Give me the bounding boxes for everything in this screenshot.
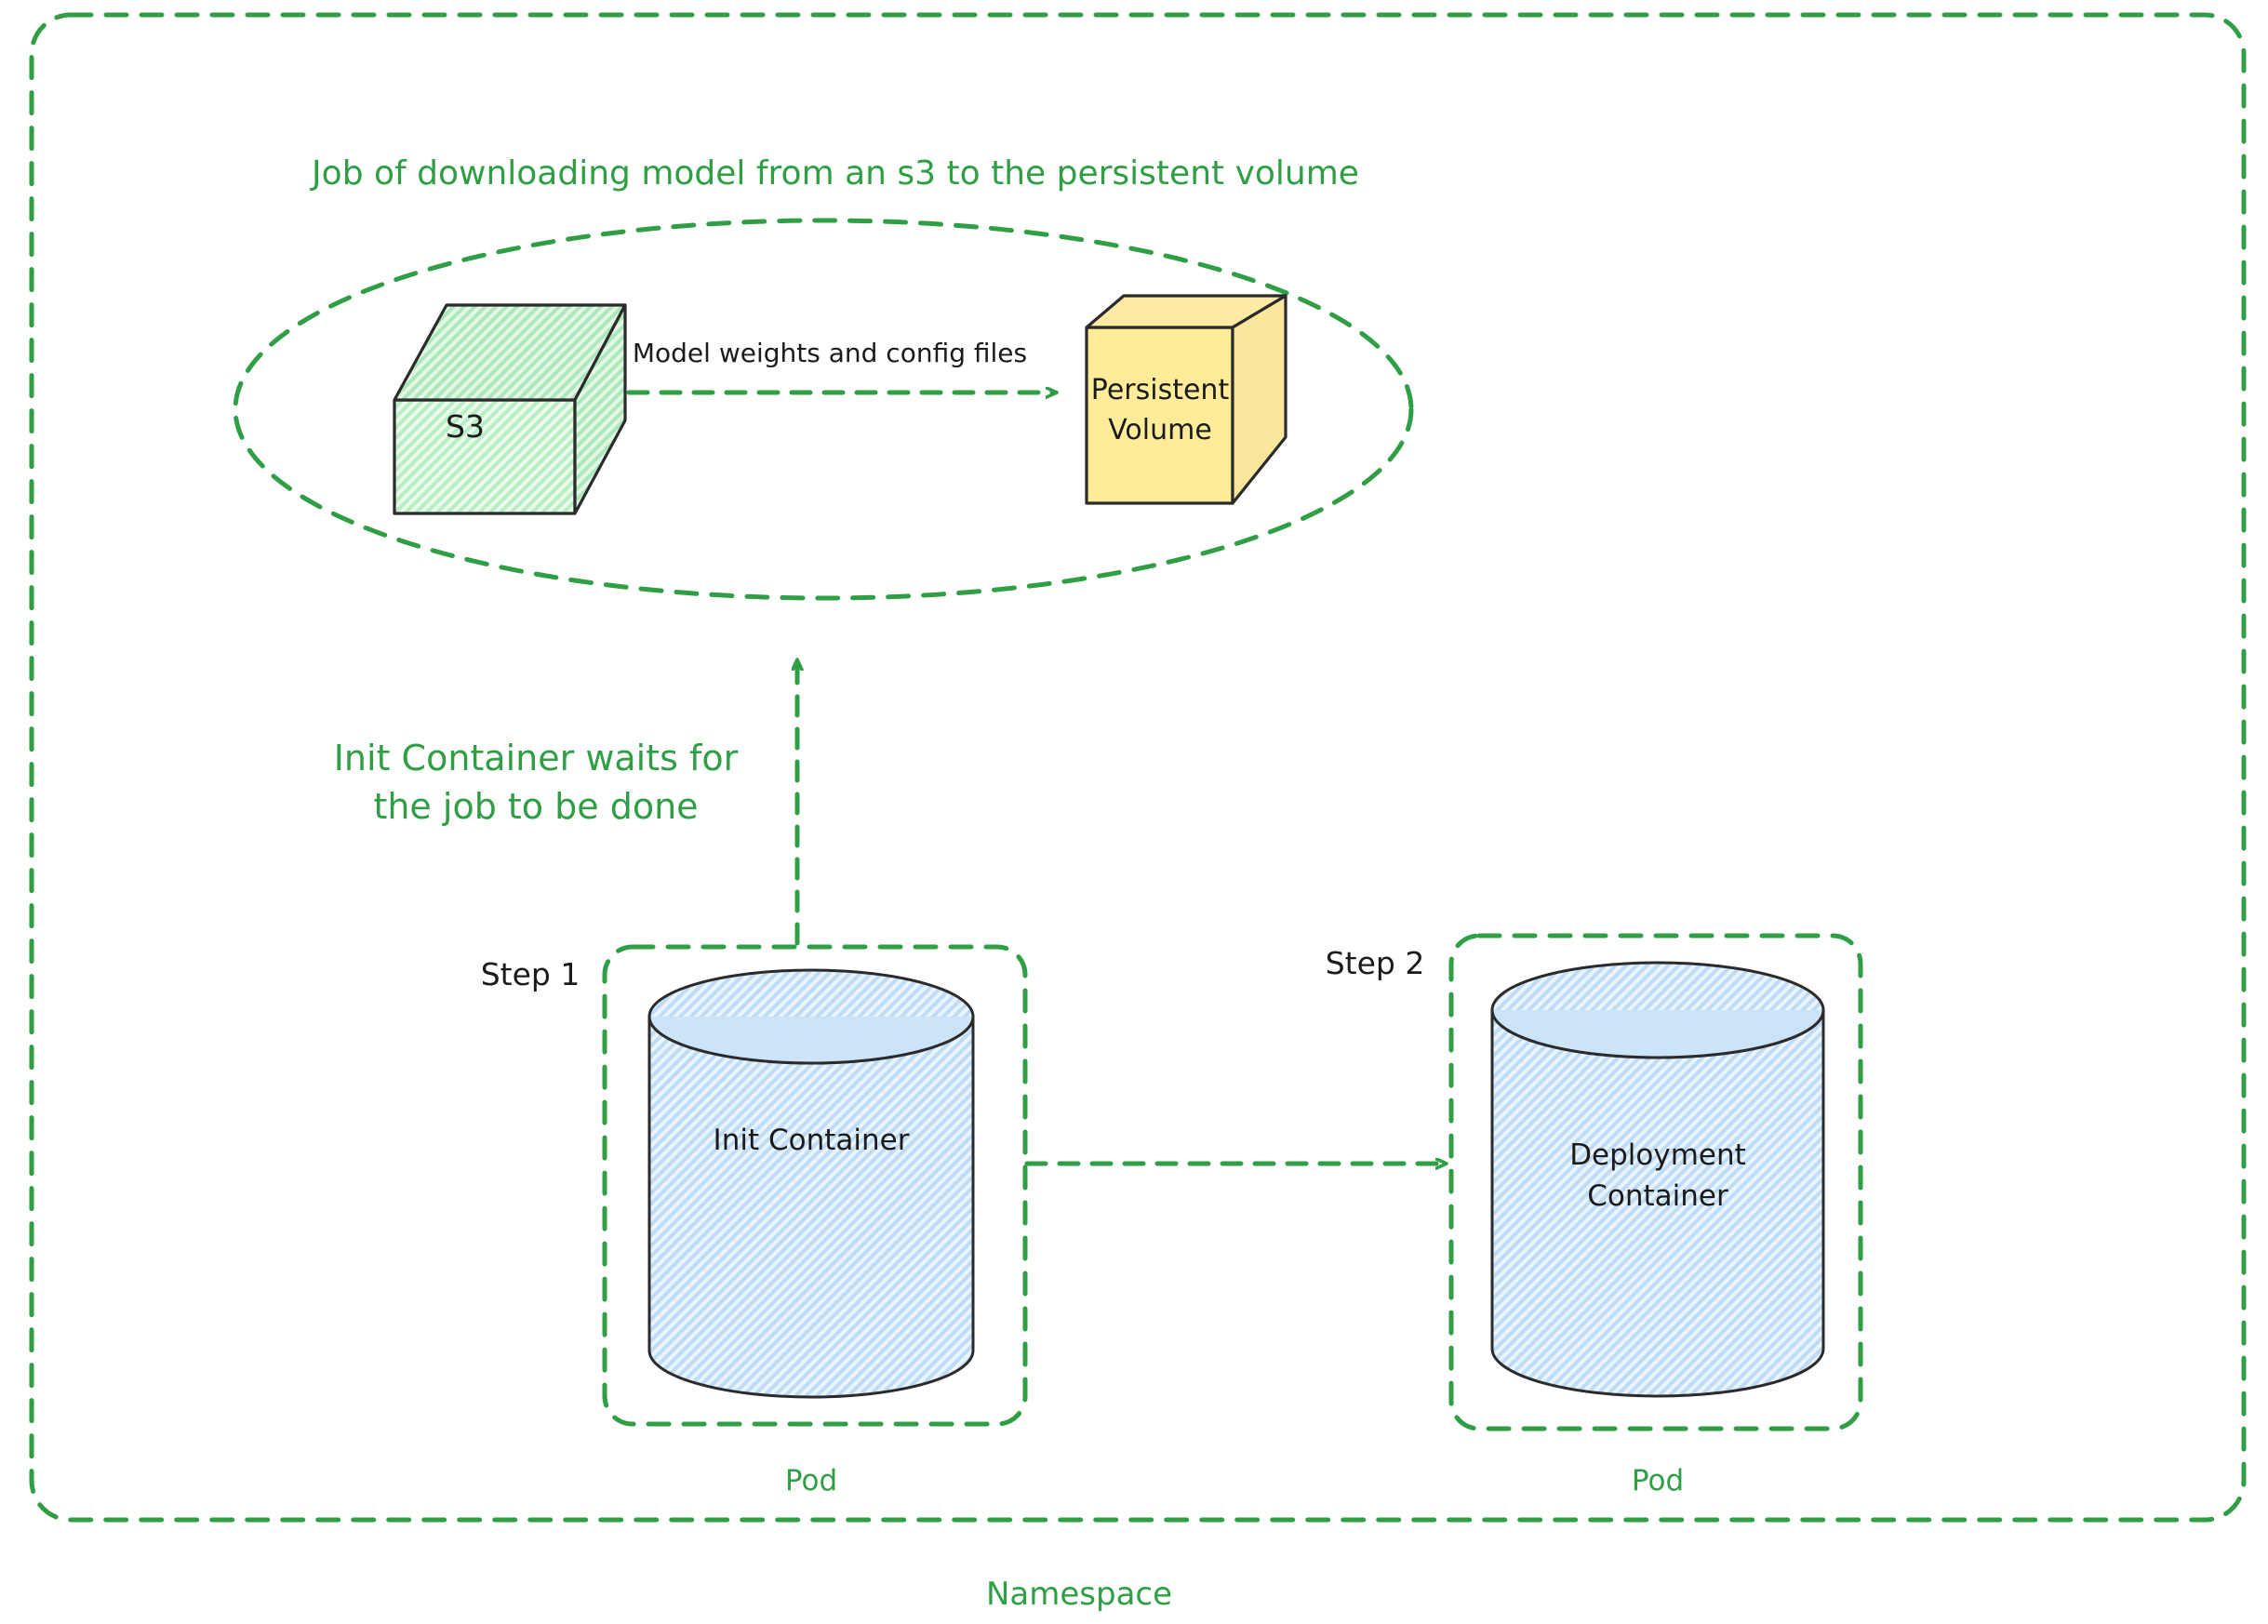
deployment-container-cylinder-shape	[1492, 963, 1823, 1396]
namespace-boundary	[32, 15, 2244, 1520]
diagram-vector-layer	[0, 0, 2268, 1624]
persistent-volume-cube-shape	[1087, 296, 1286, 503]
init-container-cylinder-shape	[649, 970, 973, 1397]
s3-cube-shape	[394, 305, 625, 513]
diagram-canvas: Job of downloading model from an s3 to t…	[0, 0, 2268, 1624]
